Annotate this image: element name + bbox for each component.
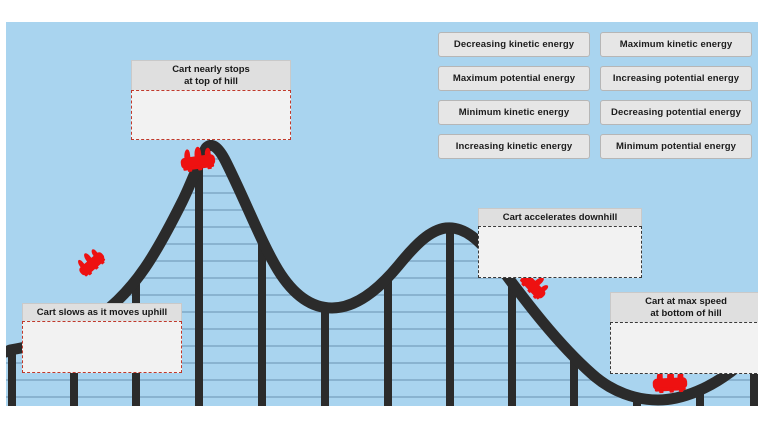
chip-decreasing-kinetic-energy[interactable]: Decreasing kinetic energy: [438, 32, 590, 57]
drop-zone-max-speed-slot[interactable]: [610, 322, 758, 374]
drop-zone-title-line-1: Cart slows as it moves uphill: [27, 307, 177, 319]
chip-maximum-kinetic-energy[interactable]: Maximum kinetic energy: [600, 32, 752, 57]
drop-zone-uphill: Cart slows as it moves uphill: [22, 303, 182, 373]
drop-zone-title-line-2: at top of hill: [136, 76, 286, 88]
drop-zone-title-line-1: Cart accelerates downhill: [483, 212, 637, 224]
chip-minimum-kinetic-energy[interactable]: Minimum kinetic energy: [438, 100, 590, 125]
drop-zone-top-of-hill: Cart nearly stops at top of hill: [131, 60, 291, 140]
chip-increasing-potential-energy[interactable]: Increasing potential energy: [600, 66, 752, 91]
chip-increasing-kinetic-energy[interactable]: Increasing kinetic energy: [438, 134, 590, 159]
drop-zone-top-of-hill-title: Cart nearly stops at top of hill: [131, 60, 291, 90]
drop-zone-max-speed: Cart at max speed at bottom of hill: [610, 292, 758, 374]
drop-zone-title-line-1: Cart nearly stops: [136, 64, 286, 76]
chip-decreasing-potential-energy[interactable]: Decreasing potential energy: [600, 100, 752, 125]
drop-zone-uphill-slot[interactable]: [22, 321, 182, 373]
roller-coaster-activity-canvas: Decreasing kinetic energy Maximum kineti…: [6, 22, 758, 406]
energy-term-bank: Decreasing kinetic energy Maximum kineti…: [438, 32, 752, 159]
drop-zone-downhill-title: Cart accelerates downhill: [478, 208, 642, 226]
drop-zone-title-line-2: at bottom of hill: [615, 308, 757, 320]
cart-uphill: [73, 245, 108, 279]
drop-zone-uphill-title: Cart slows as it moves uphill: [22, 303, 182, 321]
drop-zone-downhill: Cart accelerates downhill: [478, 208, 642, 278]
chip-maximum-potential-energy[interactable]: Maximum potential energy: [438, 66, 590, 91]
drop-zone-downhill-slot[interactable]: [478, 226, 642, 278]
drop-zone-top-of-hill-slot[interactable]: [131, 90, 291, 140]
drop-zone-max-speed-title: Cart at max speed at bottom of hill: [610, 292, 758, 322]
drop-zone-title-line-1: Cart at max speed: [615, 296, 757, 308]
chip-minimum-potential-energy[interactable]: Minimum potential energy: [600, 134, 752, 159]
